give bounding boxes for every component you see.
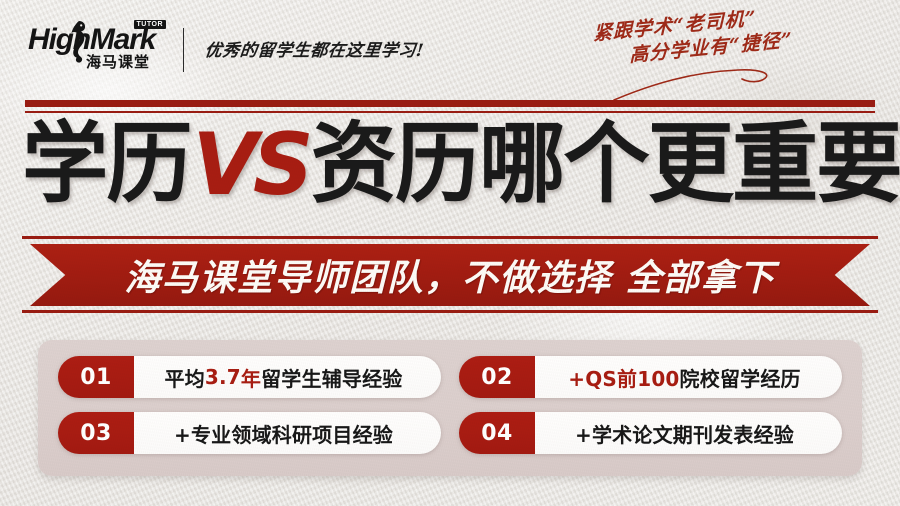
list-item[interactable]: 04 +学术论文期刊发表经验 xyxy=(459,412,842,454)
feature-label: +学术论文期刊发表经验 xyxy=(535,412,842,454)
ribbon-line-top xyxy=(22,236,878,239)
header-tagline: 优秀的留学生都在这里学习! xyxy=(204,36,426,61)
list-item[interactable]: 01 平均3.7年留学生辅导经验 xyxy=(58,356,441,398)
feature-number-badge: 03 xyxy=(58,412,134,454)
feature-label: 平均3.7年留学生辅导经验 xyxy=(134,356,441,398)
title-rule-thick xyxy=(25,100,875,107)
swoosh-decoration-icon xyxy=(612,68,862,102)
feature-text-suffix: +学术论文期刊发表经验 xyxy=(575,419,794,448)
title-part-2: 资历哪个更重要 xyxy=(311,112,900,215)
ribbon-banner: 海马课堂导师团队，不做选择 全部拿下 xyxy=(0,232,900,322)
ribbon-line-bottom xyxy=(22,310,878,313)
brand-logo: HighMark TUTOR 海马课堂 xyxy=(28,24,168,76)
feature-text-suffix: 留学生辅导经验 xyxy=(261,363,402,392)
title-vs: VS xyxy=(191,115,311,215)
page-title: 学历VS资历哪个更重要 xyxy=(22,114,865,214)
header-slogan: 紧跟学术“老司机” 高分学业有“捷径” xyxy=(592,0,895,72)
logo-tutor-badge: TUTOR xyxy=(134,20,166,29)
feature-number-badge: 01 xyxy=(58,356,134,398)
poster-header: HighMark TUTOR 海马课堂 优秀的留学生都在这里学习! 紧跟学术“老… xyxy=(0,0,900,96)
logo-chinese-name: 海马课堂 xyxy=(86,54,150,70)
feature-label: +QS前100院校留学经历 xyxy=(535,356,842,398)
ribbon-text: 海马课堂导师团队，不做选择 全部拿下 xyxy=(30,244,870,306)
list-item[interactable]: 03 +专业领域科研项目经验 xyxy=(58,412,441,454)
list-item[interactable]: 02 +QS前100院校留学经历 xyxy=(459,356,842,398)
feature-text-suffix: +专业领域科研项目经验 xyxy=(174,419,393,448)
promo-poster: HighMark TUTOR 海马课堂 优秀的留学生都在这里学习! 紧跟学术“老… xyxy=(0,0,900,506)
logo-wordmark: HighMark TUTOR xyxy=(28,24,168,56)
feature-text-highlight: +QS前100 xyxy=(568,363,679,392)
feature-label: +专业领域科研项目经验 xyxy=(134,412,441,454)
feature-text-suffix: 院校留学经历 xyxy=(680,363,801,392)
feature-text-prefix: 平均 xyxy=(164,363,204,392)
title-part-1: 学历 xyxy=(22,112,191,215)
feature-text-highlight: 3.7 xyxy=(205,365,241,389)
feature-number-badge: 04 xyxy=(459,412,535,454)
seahorse-icon xyxy=(68,19,88,65)
features-list: 01 平均3.7年留学生辅导经验 02 +QS前100院校留学经历 03 +专业… xyxy=(38,340,862,476)
feature-number-badge: 02 xyxy=(459,356,535,398)
feature-text-mid: 年 xyxy=(241,363,261,392)
header-divider xyxy=(183,28,184,72)
